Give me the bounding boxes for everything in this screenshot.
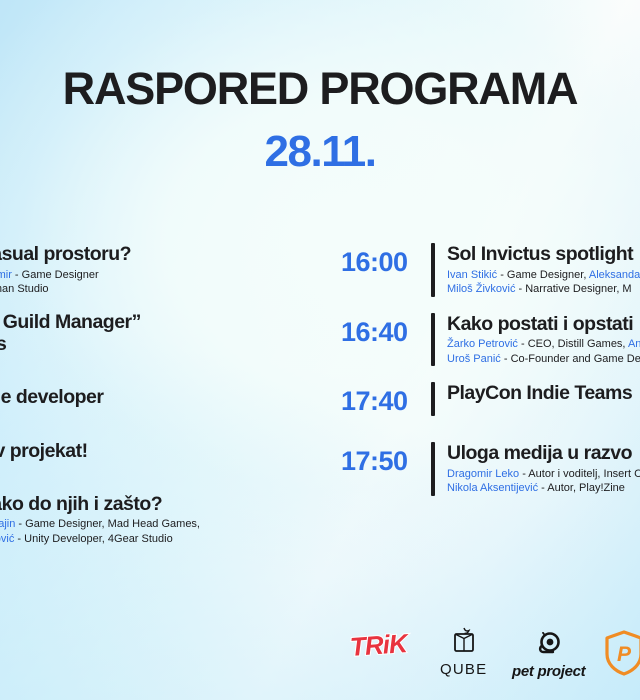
qube-cube-icon bbox=[451, 626, 477, 659]
schedule-item-title: Preživljavanja kao indie developer bbox=[0, 386, 340, 409]
schedule-item-body: Kako uspeti u hypercasual prostoru? Over… bbox=[0, 243, 340, 297]
schedule-item-speakers: Dragomir Leko - Autor i voditelj, Insert… bbox=[447, 467, 640, 496]
sponsor-logos: TRiK QUBE bbox=[0, 614, 640, 700]
speaker-role: - CEO, Distill Games, bbox=[518, 338, 628, 350]
schedule-item-speakers: Source Content Generalist, WDWRM bbox=[0, 411, 340, 426]
schedule-item-body: Pokreni svoj game dev projekat! Software… bbox=[0, 440, 340, 479]
speaker-role: - Co-Founder and Game Des bbox=[501, 353, 640, 365]
divider-rule bbox=[431, 243, 435, 297]
page-title: RASPORED PROGRAMA bbox=[0, 0, 640, 111]
speaker-role: - Autor, Play!Zine bbox=[538, 482, 625, 494]
speaker-line: Nikola Aksentijević - Autor, Play!Zine bbox=[447, 481, 640, 496]
pet-snail-icon bbox=[536, 632, 562, 661]
speaker-name: Dragomir Leko bbox=[447, 468, 519, 480]
divider-rule bbox=[431, 442, 435, 496]
schedule-item-body: Preživljavanja kao indie developer Sourc… bbox=[0, 386, 340, 425]
schedule-item-title: Uloga medija u razvo bbox=[447, 442, 640, 465]
schedule-item[interactable]: Preživljavanja kao indie developer Sourc… bbox=[0, 386, 340, 425]
schedule-item-body: Razvoj igre “Gladiator Guild Manager” na… bbox=[0, 311, 340, 373]
speaker-line: Ivan Stikić - Game Designer, Aleksandar bbox=[447, 268, 640, 283]
poster-canvas: RASPORED PROGRAMA 28.11. Kako uspeti u h… bbox=[0, 0, 640, 700]
schedule-item-time: 17:40 bbox=[341, 382, 431, 415]
sponsor-logo-pet-project[interactable]: pet project bbox=[512, 632, 585, 680]
schedule-item-speakers: Ivan Stikić - Game Designer, Aleksandar … bbox=[447, 268, 640, 297]
schedule-item-title: Game dev resurse - kako do njih i zašto? bbox=[0, 493, 340, 516]
speaker-role: - Narrative Designer, M bbox=[515, 283, 631, 295]
schedule-item[interactable]: Pokreni svoj game dev projekat! Software… bbox=[0, 440, 340, 479]
speaker-line: Overlord, CrazyHubs Serbia, Luka Budimir… bbox=[0, 268, 340, 283]
schedule-item-speakers: Overlord, CrazyHubs Serbia, Luka Budimir… bbox=[0, 268, 340, 297]
sponsor-logo-shield[interactable]: P bbox=[604, 630, 640, 681]
schedule-item-title: Sol Invictus spotlight bbox=[447, 243, 640, 266]
speaker-role: - Game Designer bbox=[12, 269, 99, 281]
speaker-line: Martin Mitrović - Unity Developer, Trico… bbox=[0, 282, 340, 297]
schedule-column-left: Kako uspeti u hypercasual prostoru? Over… bbox=[0, 243, 340, 560]
schedule-columns: Kako uspeti u hypercasual prostoru? Over… bbox=[0, 243, 640, 593]
schedule-item-time: 16:00 bbox=[341, 243, 431, 276]
divider-rule bbox=[431, 313, 435, 367]
speaker-line: Founder, Omaya Studio, Dragan Kuburović … bbox=[0, 532, 340, 547]
speaker-line: Software Engineer, Outfit7 bbox=[0, 464, 340, 479]
schedule-column-right: 16:00 Sol Invictus spotlight Ivan Stikić… bbox=[341, 243, 640, 512]
speaker-name: Miloš Živković bbox=[447, 283, 515, 295]
speaker-name: Uroš Panić bbox=[447, 353, 501, 365]
schedule-item-body: Game dev resurse - kako do njih i zašto?… bbox=[0, 493, 340, 547]
speaker-role: - Autor i voditelj, Insert C bbox=[519, 468, 640, 480]
schedule-item-title-line1: Razvoj igre “Gladiator Guild Manager” bbox=[0, 311, 141, 333]
speaker-name: Dragan Kuburović bbox=[0, 533, 14, 545]
schedule-item[interactable]: 16:40 Kako postati i opstati Žarko Petro… bbox=[341, 313, 640, 367]
schedule-item[interactable]: 17:40 PlayCon Indie Teams bbox=[341, 382, 640, 416]
speaker-line: Dragomir Leko - Autor i voditelj, Insert… bbox=[447, 467, 640, 482]
speaker-name: Aleksandar bbox=[589, 269, 640, 281]
schedule-item-title: Kako postati i opstati bbox=[447, 313, 640, 336]
schedule-item-title: Pokreni svoj game dev projekat! bbox=[0, 440, 340, 463]
speaker-role: - Game Designer, Mad Head Games, bbox=[15, 518, 200, 530]
speaker-name: And bbox=[628, 338, 640, 350]
svg-text:P: P bbox=[617, 643, 632, 666]
schedule-item-body: Uloga medija u razvo Dragomir Leko - Aut… bbox=[447, 442, 640, 496]
schedule-item-speakers: Entertainment Forge bbox=[0, 358, 340, 373]
speaker-line: Miloš Živković - Narrative Designer, M bbox=[447, 282, 640, 297]
speaker-line: Žarko Petrović - CEO, Distill Games, And bbox=[447, 337, 640, 352]
schedule-item-title: Kako uspeti u hypercasual prostoru? bbox=[0, 243, 340, 266]
speaker-role: - Game Designer, bbox=[497, 269, 589, 281]
trik-logo-text: TRiK bbox=[349, 628, 408, 663]
speaker-name: Ivan Stikić bbox=[447, 269, 497, 281]
schedule-item-body: Sol Invictus spotlight Ivan Stikić - Gam… bbox=[447, 243, 640, 297]
schedule-item-speakers: Žarko Petrović - CEO, Distill Games, And… bbox=[447, 337, 640, 366]
speaker-line: Source Content Generalist, WDWRM bbox=[0, 411, 340, 426]
sponsor-logo-trik[interactable]: TRiK bbox=[350, 630, 407, 661]
speaker-line: Uroš Panić - Co-Founder and Game Des bbox=[447, 352, 640, 367]
shield-icon: P bbox=[604, 630, 640, 681]
schedule-item[interactable]: 17:50 Uloga medija u razvo Dragomir Leko… bbox=[341, 442, 640, 496]
schedule-item[interactable]: Game dev resurse - kako do njih i zašto?… bbox=[0, 493, 340, 547]
schedule-item[interactable]: Kako uspeti u hypercasual prostoru? Over… bbox=[0, 243, 340, 297]
schedule-item-time: 17:50 bbox=[341, 442, 431, 475]
schedule-item-body: Kako postati i opstati Žarko Petrović - … bbox=[447, 313, 640, 367]
speaker-name: Žarko Petrović bbox=[447, 338, 518, 350]
schedule-item-title: PlayCon Indie Teams bbox=[447, 382, 640, 405]
sponsor-logo-qube[interactable]: QUBE bbox=[440, 626, 487, 678]
schedule-item-speakers: Software Engineer, Outfit7 bbox=[0, 464, 340, 479]
speaker-name: Vid Rajin bbox=[0, 518, 15, 530]
speaker-line: Entertainment Forge bbox=[0, 358, 340, 373]
speaker-line: Specialist, Crater Training Center, Vid … bbox=[0, 517, 340, 532]
schedule-item[interactable]: Razvoj igre “Gladiator Guild Manager” na… bbox=[0, 311, 340, 373]
schedule-item-time: 16:40 bbox=[341, 313, 431, 346]
schedule-item[interactable]: 16:00 Sol Invictus spotlight Ivan Stikić… bbox=[341, 243, 640, 297]
schedule-item-body: PlayCon Indie Teams bbox=[447, 382, 640, 405]
speaker-role: - Unity Developer, Tricoman Studio bbox=[0, 283, 49, 295]
speaker-name: Nikola Aksentijević bbox=[447, 482, 538, 494]
schedule-item-speakers: Specialist, Crater Training Center, Vid … bbox=[0, 517, 340, 546]
schedule-item-title: Razvoj igre “Gladiator Guild Manager” na… bbox=[0, 311, 340, 356]
qube-logo-text: QUBE bbox=[440, 661, 487, 678]
schedule-item-title-line2: na Steam Early Access bbox=[0, 333, 6, 355]
speaker-name: Luka Budimir bbox=[0, 269, 12, 281]
pet-project-logo-text: pet project bbox=[512, 663, 585, 680]
speaker-role: - Unity Developer, 4Gear Studio bbox=[14, 533, 172, 545]
event-date: 28.11. bbox=[0, 111, 640, 174]
poster-header: RASPORED PROGRAMA 28.11. bbox=[0, 0, 640, 174]
divider-rule bbox=[431, 382, 435, 416]
